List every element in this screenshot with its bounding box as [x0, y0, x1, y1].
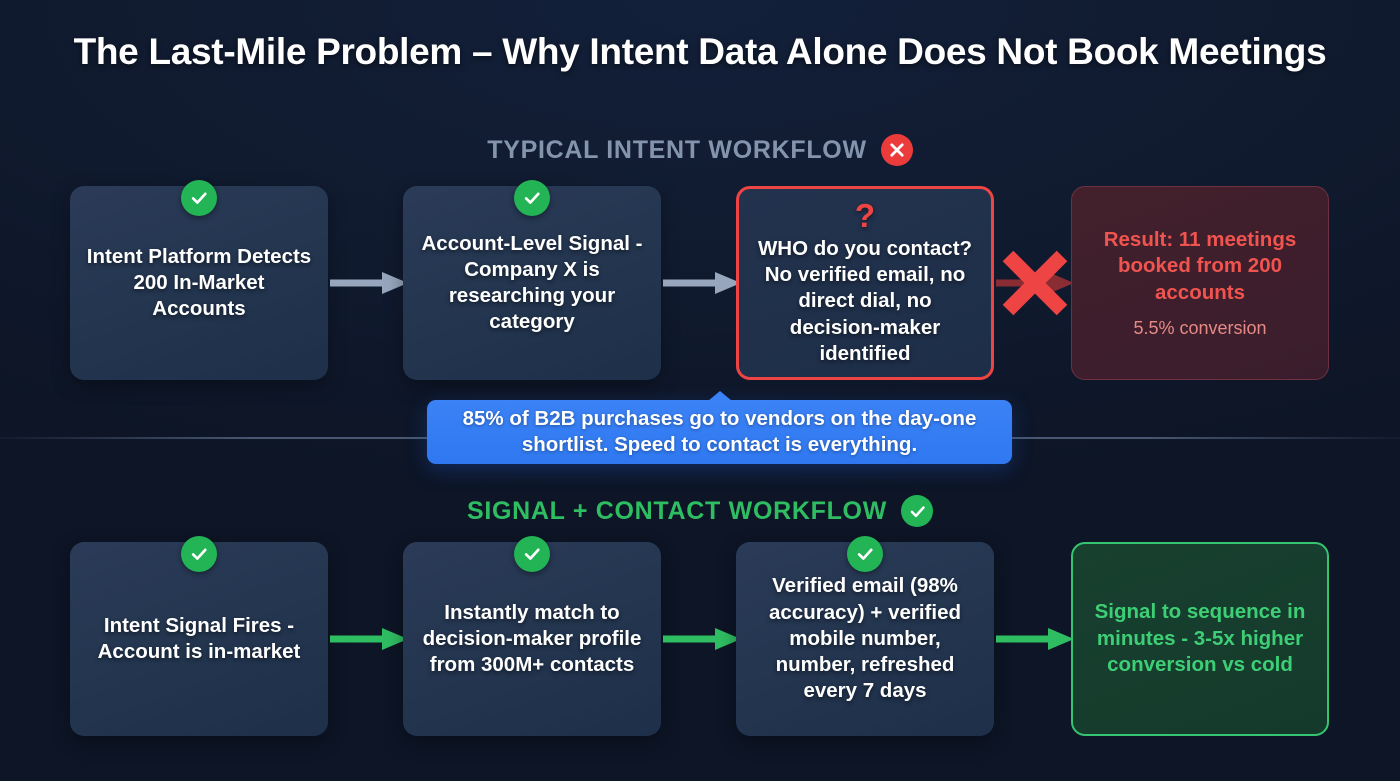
diagram-canvas: The Last-Mile Problem – Why Intent Data … — [0, 0, 1400, 781]
top-step-3-box[interactable]: ? WHO do you contact? No verified email,… — [736, 186, 994, 380]
bottom-result-main-label: Signal to sequence in minutes - 3-5x hig… — [1089, 599, 1311, 679]
top-result-box[interactable]: Result: 11 meetings booked from 200 acco… — [1071, 186, 1329, 380]
question-mark-icon: ? — [855, 199, 875, 232]
bottom-arrow-1-icon — [330, 626, 408, 652]
circle-check-icon — [901, 495, 933, 527]
check-circle-icon — [181, 536, 217, 572]
check-circle-icon — [514, 536, 550, 572]
top-step-2-label: Account-Level Signal - Company X is rese… — [419, 231, 645, 336]
callout-label: 85% of B2B purchases go to vendors on th… — [427, 406, 1012, 458]
top-result-main-label: Result: 11 meetings booked from 200 acco… — [1088, 227, 1312, 307]
bottom-arrow-3-icon — [996, 626, 1074, 652]
top-step-1-label: Intent Platform Detects 200 In-Market Ac… — [86, 244, 312, 323]
circle-x-icon — [881, 134, 913, 166]
top-step-3-label: WHO do you contact? No verified email, n… — [755, 236, 975, 367]
bottom-arrow-2-icon — [663, 626, 741, 652]
bottom-result-box[interactable]: Signal to sequence in minutes - 3-5x hig… — [1071, 542, 1329, 736]
bottom-step-1-label: Intent Signal Fires - Account is in-mark… — [86, 613, 312, 665]
top-result-sub-label: 5.5% conversion — [1133, 318, 1266, 339]
section-header-signal-contact-workflow: SIGNAL + CONTACT WORKFLOW — [0, 495, 1400, 527]
check-circle-icon — [847, 536, 883, 572]
section-header-label: TYPICAL INTENT WORKFLOW — [487, 136, 867, 165]
bottom-step-2-label: Instantly match to decision-maker profil… — [419, 600, 645, 679]
check-circle-icon — [181, 180, 217, 216]
section-header-typical-workflow: TYPICAL INTENT WORKFLOW — [0, 134, 1400, 166]
section-header-label: SIGNAL + CONTACT WORKFLOW — [467, 497, 887, 526]
bottom-step-3-label: Verified email (98% accuracy) + verified… — [752, 573, 978, 704]
top-arrow-1-icon — [330, 270, 408, 296]
callout-banner: 85% of B2B purchases go to vendors on th… — [427, 400, 1012, 464]
red-x-icon — [998, 246, 1072, 320]
page-title: The Last-Mile Problem – Why Intent Data … — [0, 31, 1400, 73]
callout-notch-icon — [708, 391, 732, 401]
check-circle-icon — [514, 180, 550, 216]
top-arrow-2-icon — [663, 270, 741, 296]
